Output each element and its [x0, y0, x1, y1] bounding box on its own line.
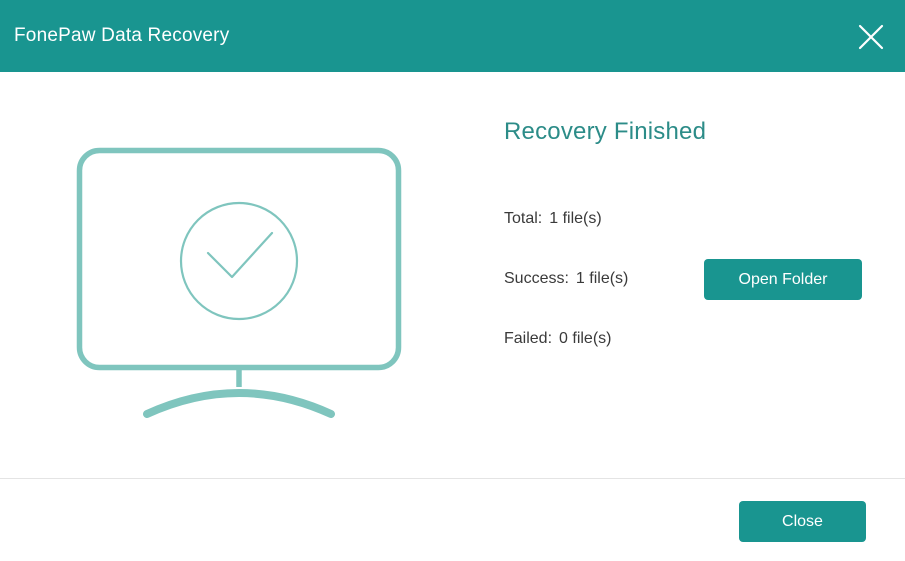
stat-row-total: Total:1 file(s)	[504, 189, 894, 249]
stat-row-failed: Failed:0 file(s)	[504, 309, 894, 369]
window-title-bar: FonePaw Data Recovery	[0, 0, 905, 72]
open-folder-button[interactable]: Open Folder	[704, 259, 862, 300]
result-title: Recovery Finished	[504, 117, 894, 147]
stat-label-success: Success:	[504, 270, 569, 287]
fonepaw-recovery-finished-dialog: FonePaw Data Recovery	[0, 0, 905, 561]
stat-value-success: 1 file(s)	[576, 270, 628, 287]
stat-label-total: Total:	[504, 210, 542, 227]
monitor-with-checkmark-icon	[60, 132, 420, 432]
dialog-footer: Close	[0, 478, 905, 561]
stat-row-success: Success:1 file(s) Open Folder	[504, 249, 894, 309]
recovery-summary: Recovery Finished Total:1 file(s) Succes…	[504, 117, 894, 147]
stat-label-failed: Failed:	[504, 330, 552, 347]
close-button[interactable]: Close	[739, 501, 866, 542]
window-title: FonePaw Data Recovery	[14, 0, 229, 72]
stats-list: Total:1 file(s) Success:1 file(s) Open F…	[504, 189, 894, 369]
dialog-body: Recovery Finished Total:1 file(s) Succes…	[0, 72, 905, 478]
stat-value-total: 1 file(s)	[549, 210, 601, 227]
close-x-icon[interactable]	[854, 20, 888, 54]
stat-value-failed: 0 file(s)	[559, 330, 611, 347]
